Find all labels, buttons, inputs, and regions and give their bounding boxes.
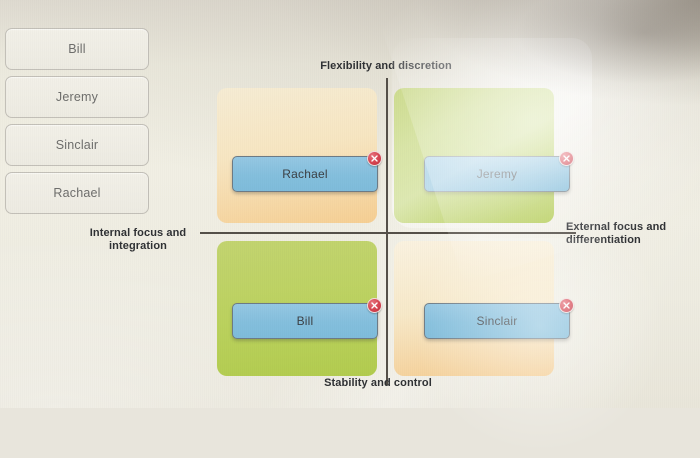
placed-card-label: Jeremy xyxy=(477,167,518,181)
close-icon[interactable] xyxy=(367,298,382,313)
competing-values-quadrant-chart: Flexibility and discretion Stability and… xyxy=(200,55,580,395)
name-card-sinclair[interactable]: Sinclair xyxy=(5,124,149,166)
axis-label-bottom: Stability and control xyxy=(268,377,488,390)
name-card-label: Bill xyxy=(68,42,85,56)
horizontal-axis-line xyxy=(200,232,576,234)
close-icon[interactable] xyxy=(559,151,574,166)
name-card-label: Sinclair xyxy=(56,138,99,152)
placed-card-rachael[interactable]: Rachael xyxy=(232,156,378,192)
placed-card-bill[interactable]: Bill xyxy=(232,303,378,339)
name-card-rachael[interactable]: Rachael xyxy=(5,172,149,214)
placed-card-label: Rachael xyxy=(282,167,327,181)
name-card-jeremy[interactable]: Jeremy xyxy=(5,76,149,118)
name-card-label: Rachael xyxy=(53,186,100,200)
name-card-list: Bill Jeremy Sinclair Rachael xyxy=(5,28,149,220)
placed-card-label: Bill xyxy=(297,314,314,328)
quadrant-bottom-left[interactable]: Bill xyxy=(217,241,377,376)
quadrant-bottom-right[interactable]: Sinclair xyxy=(394,241,554,376)
close-icon[interactable] xyxy=(559,298,574,313)
name-card-bill[interactable]: Bill xyxy=(5,28,149,70)
name-card-label: Jeremy xyxy=(56,90,98,104)
quadrant-top-right[interactable]: Jeremy xyxy=(394,88,554,223)
placed-card-jeremy[interactable]: Jeremy xyxy=(424,156,570,192)
placed-card-sinclair[interactable]: Sinclair xyxy=(424,303,570,339)
quadrant-top-left[interactable]: Rachael xyxy=(217,88,377,223)
placed-card-label: Sinclair xyxy=(477,314,518,328)
axis-label-left: Internal focus and integration xyxy=(78,227,198,253)
axis-label-right: External focus and differentiation xyxy=(566,221,692,247)
axis-label-top: Flexibility and discretion xyxy=(276,60,496,73)
close-icon[interactable] xyxy=(367,151,382,166)
